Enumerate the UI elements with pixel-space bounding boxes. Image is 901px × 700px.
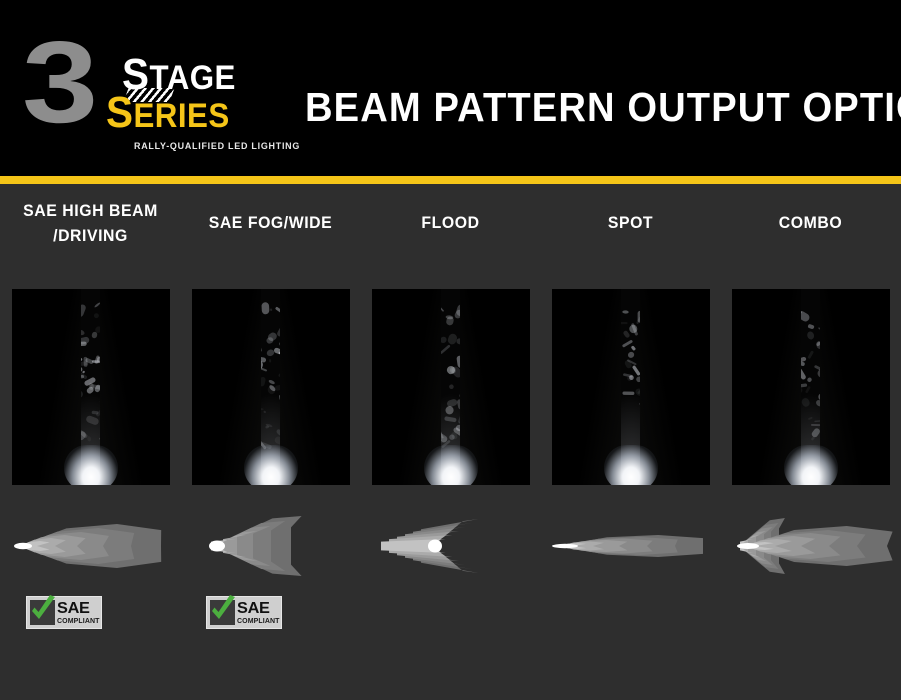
- sae-compliant-badge: SAECOMPLIANT: [26, 596, 102, 629]
- column-label-line1: SAE FOG/WIDE: [186, 210, 354, 235]
- sae-compliant-badge: SAECOMPLIANT: [206, 596, 282, 629]
- header-divider: [0, 176, 901, 184]
- beam-photo-combo: [732, 289, 890, 485]
- beam-column-combo: COMBO: [720, 184, 901, 700]
- column-label-line1: SPOT: [546, 210, 714, 235]
- sae-badge-subtitle: COMPLIANT: [237, 618, 280, 625]
- beam-diagram-sae-high-beam-driving: [0, 500, 181, 586]
- logo-tagline: RALLY-QUALIFIED LED LIGHTING: [134, 141, 300, 152]
- header-bar: 3 STAGE SERIES RALLY-QUALIFIED LED LIGHT…: [0, 0, 901, 176]
- checkmark-icon: [30, 600, 55, 625]
- column-label-spot: SPOT: [546, 210, 714, 235]
- beam-diagram-flood: [360, 500, 541, 586]
- beam-columns-grid: SAE HIGH BEAM/DRIVINGSAECOMPLIANTSAE FOG…: [0, 184, 901, 700]
- sae-badge-text: SAECOMPLIANT: [237, 601, 280, 625]
- sae-badge-text: SAECOMPLIANT: [57, 601, 100, 625]
- beam-column-spot: SPOT: [540, 184, 721, 700]
- beam-diagram-sae-fog-wide: [180, 500, 361, 586]
- column-label-flood: FLOOD: [366, 210, 534, 235]
- column-label-sae-fog-wide: SAE FOG/WIDE: [186, 210, 354, 235]
- beam-diagram-spot: [540, 500, 721, 586]
- column-label-line2: /DRIVING: [6, 223, 174, 248]
- beam-photo-sae-high-beam-driving: [12, 289, 170, 485]
- beam-pattern-infographic: 3 STAGE SERIES RALLY-QUALIFIED LED LIGHT…: [0, 0, 901, 700]
- beam-photo-sae-fog-wide: [192, 289, 350, 485]
- sae-badge-title: SAE: [57, 601, 100, 617]
- stage-series-logo: 3 STAGE SERIES RALLY-QUALIFIED LED LIGHT…: [22, 28, 274, 140]
- beam-photo-flood: [372, 289, 530, 485]
- beam-column-flood: FLOOD: [360, 184, 541, 700]
- sae-badge-subtitle: COMPLIANT: [57, 618, 100, 625]
- column-label-line1: COMBO: [726, 210, 894, 235]
- sae-badge-title: SAE: [237, 601, 280, 617]
- column-label-sae-high-beam-driving: SAE HIGH BEAM/DRIVING: [6, 198, 174, 248]
- column-label-line1: FLOOD: [366, 210, 534, 235]
- beam-photo-spot: [552, 289, 710, 485]
- page-title: BEAM PATTERN OUTPUT OPTIONS: [305, 84, 901, 131]
- column-label-combo: COMBO: [726, 210, 894, 235]
- logo-word-series: SERIES: [106, 88, 230, 138]
- checkmark-icon: [210, 600, 235, 625]
- logo-series-rest: ERIES: [133, 97, 229, 135]
- beam-column-sae-fog-wide: SAE FOG/WIDESAECOMPLIANT: [180, 184, 361, 700]
- beam-column-sae-high-beam-driving: SAE HIGH BEAM/DRIVINGSAECOMPLIANT: [0, 184, 181, 700]
- beam-diagram-combo: [720, 500, 901, 586]
- column-label-line1: SAE HIGH BEAM: [6, 198, 174, 223]
